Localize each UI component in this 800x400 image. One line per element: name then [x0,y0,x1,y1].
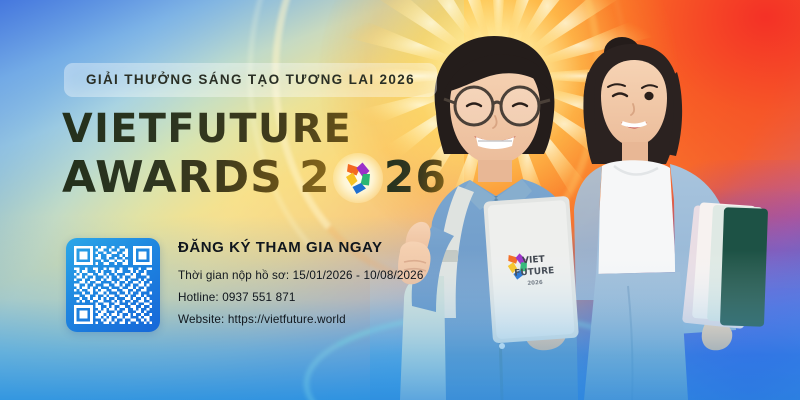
registration-deadline: Thời gian nộp hồ sơ: 15/01/2026 - 10/08/… [178,269,423,282]
registration-heading: ĐĂNG KÝ THAM GIA NGAY [178,239,423,256]
qr-code[interactable] [66,238,160,332]
title-line-2-prefix: AWARDS 2 [62,157,331,199]
qr-code-image [74,246,152,324]
registration-text: ĐĂNG KÝ THAM GIA NGAY Thời gian nộp hồ s… [178,238,423,326]
vietfuture-star-logo [333,153,383,203]
star-icon [342,162,374,194]
banner-content: GIẢI THƯỞNG SÁNG TẠO TƯƠNG LAI 2026 VIET… [0,0,440,400]
title-line-2-suffix: 26 [384,157,447,199]
registration-hotline: Hotline: 0937 551 871 [178,291,423,304]
title-line-2: AWARDS 2 26 [62,154,422,202]
eyebrow-text: GIẢI THƯỞNG SÁNG TẠO TƯƠNG LAI 2026 [86,72,415,87]
registration-website[interactable]: Website: https://vietfuture.world [178,313,423,326]
title-block: VIETFUTURE AWARDS 2 26 [62,110,422,202]
title-line-1: VIETFUTURE [62,110,418,148]
vietfuture-awards-banner: VIET FUTURE 2026 GIẢI THƯỞNG SÁNG TẠO TƯ… [0,0,800,400]
registration-block: ĐĂNG KÝ THAM GIA NGAY Thời gian nộp hồ s… [66,238,423,332]
eyebrow-badge: GIẢI THƯỞNG SÁNG TẠO TƯƠNG LAI 2026 [64,63,437,97]
